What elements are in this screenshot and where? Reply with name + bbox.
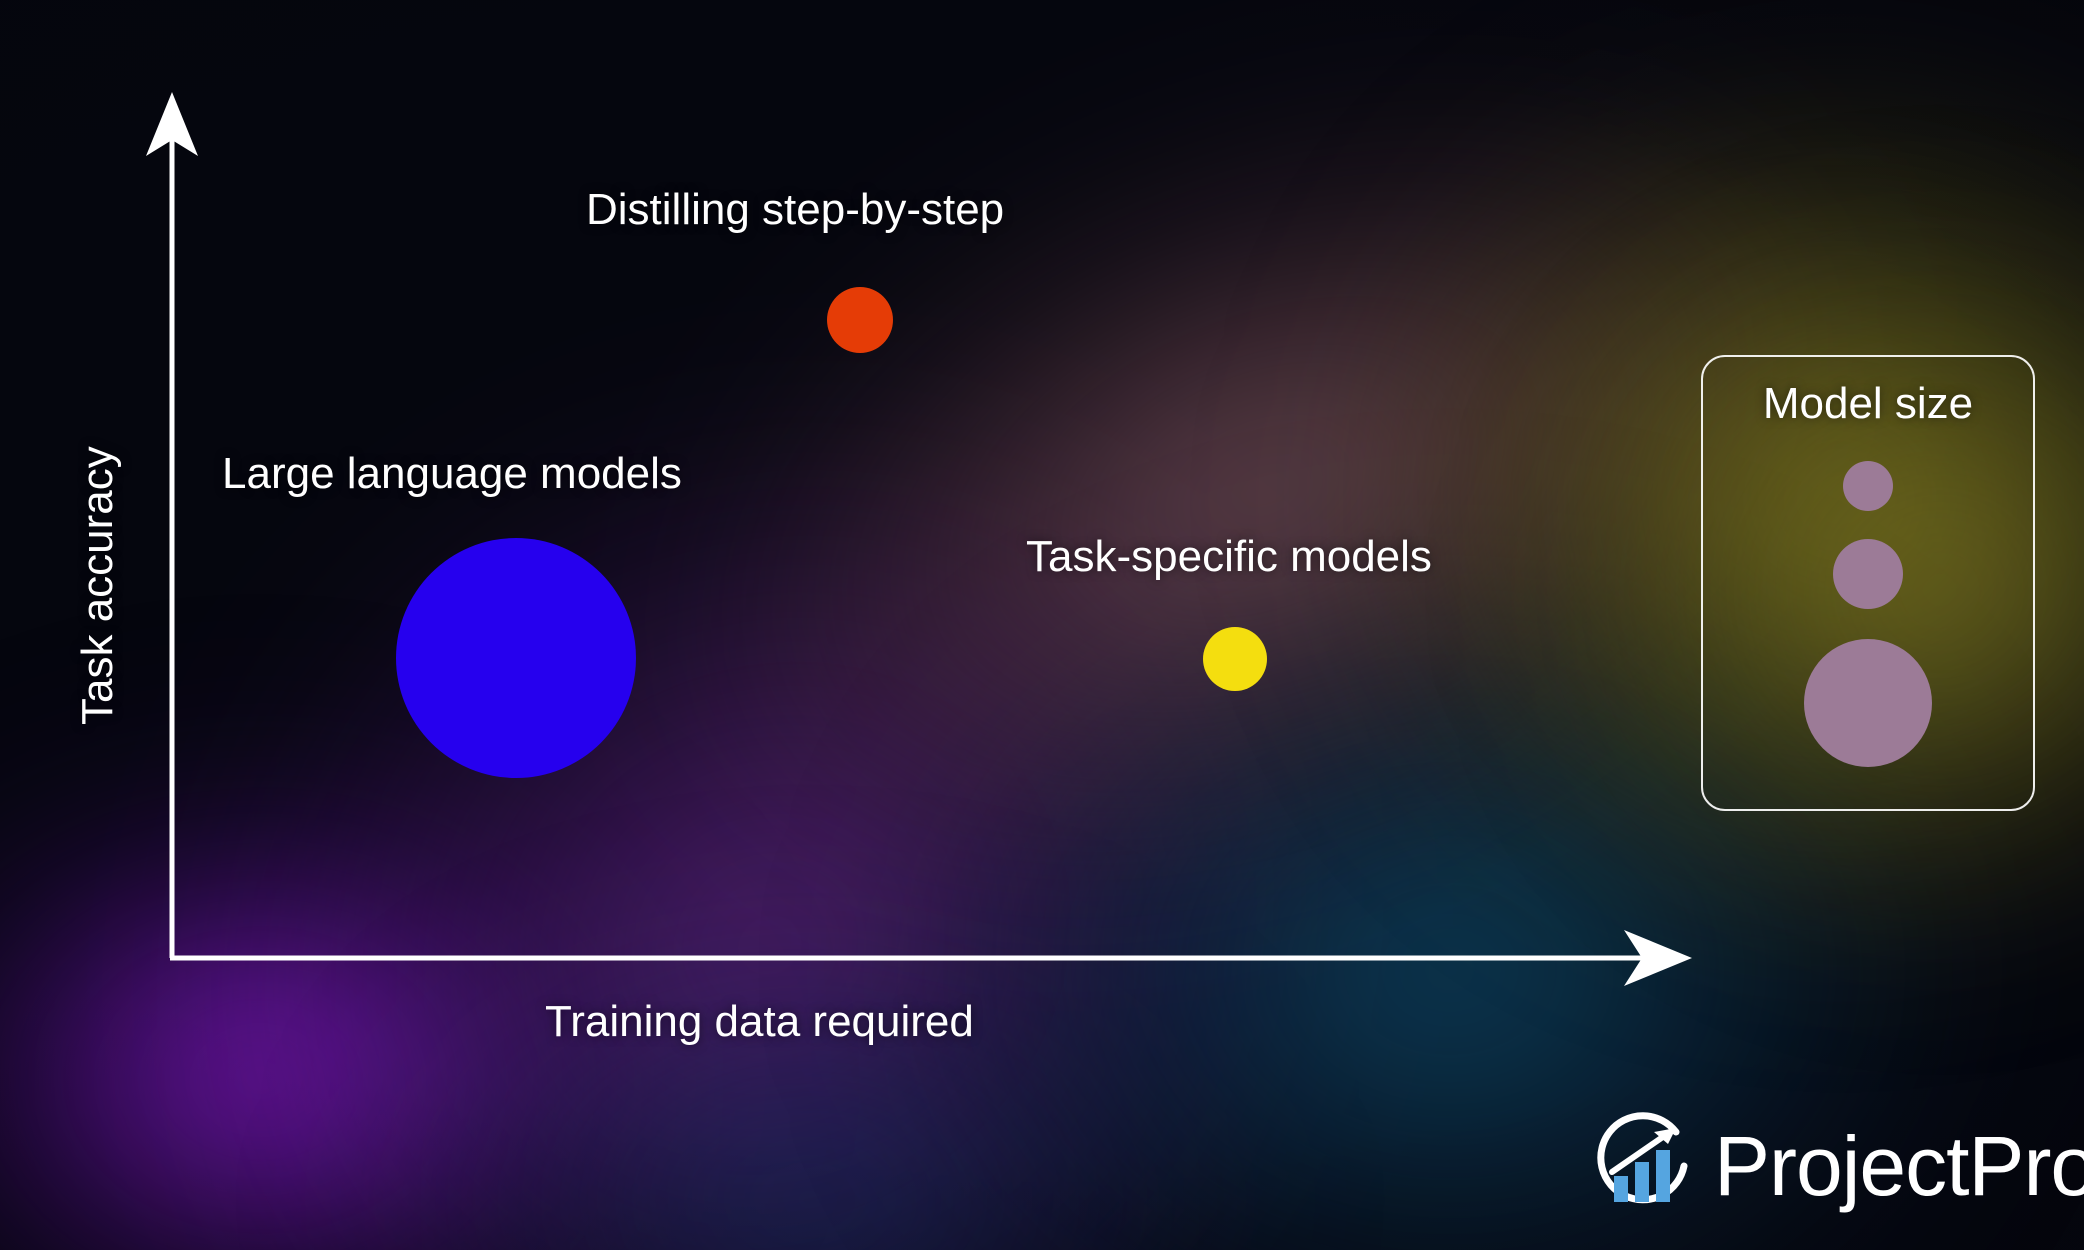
y-axis-arrowhead-icon (146, 92, 198, 156)
background-glow-violet (3, 204, 1538, 1250)
background-glow-purple (0, 700, 760, 1250)
projectpro-logo: ProjectPro (1588, 1110, 2084, 1222)
annotation-task-specific-models: Task-specific models (1026, 532, 1432, 582)
y-axis-label: Task accuracy (73, 465, 123, 725)
legend-title: Model size (1703, 379, 2033, 429)
legend-model-size: Model size (1701, 355, 2035, 811)
annotation-distilling-step-by-step: Distilling step-by-step (586, 185, 1004, 235)
chart-canvas: Task accuracy Training data required Dis… (0, 0, 2084, 1250)
data-point-task-specific-models[interactable] (1203, 627, 1267, 691)
x-axis-label: Training data required (545, 997, 974, 1047)
x-axis-arrowhead-icon (1624, 930, 1692, 986)
legend-dot-medium (1833, 539, 1903, 609)
legend-dot-large (1804, 639, 1932, 767)
growth-chart-circle-icon (1588, 1110, 1700, 1222)
projectpro-wordmark: ProjectPro (1714, 1124, 2084, 1208)
legend-dot-small (1843, 461, 1893, 511)
data-point-large-language-models[interactable] (396, 538, 636, 778)
data-point-distilling-step-by-step[interactable] (827, 287, 893, 353)
background-glow-blue (360, 930, 1260, 1250)
annotation-large-language-models: Large language models (222, 449, 682, 499)
